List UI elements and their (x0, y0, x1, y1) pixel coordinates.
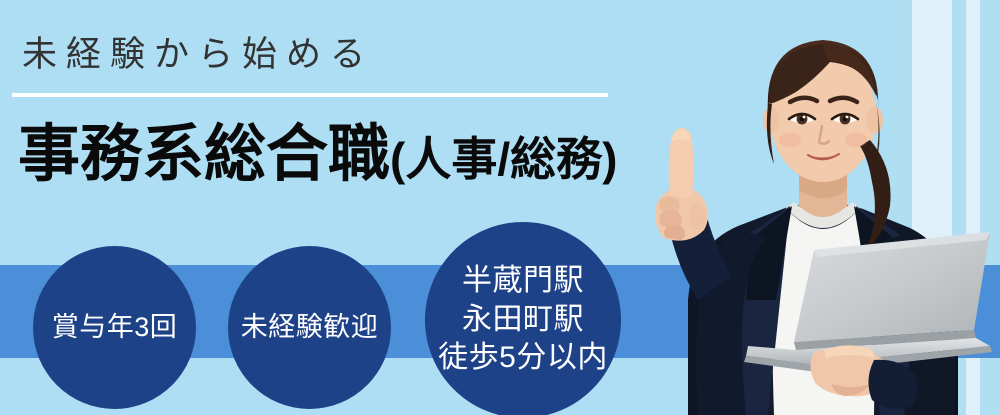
divider-rule (12, 93, 608, 97)
badge-inexperienced-welcome-label: 未経験歓迎 (241, 310, 379, 345)
tagline: 未経験から始める (22, 33, 374, 77)
badge-station-access-label: 半蔵門駅永田町駅徒歩5分以内 (438, 262, 608, 377)
headline-sub: (人事/総務) (390, 133, 617, 185)
page-title: 事務系総合職(人事/総務) (18, 118, 617, 208)
headline-main: 事務系総合職 (18, 120, 390, 189)
job-ad-banner: 未経験から始める 事務系総合職(人事/総務) 賞与年3回 未経験歓迎 半蔵門駅永… (0, 0, 1000, 415)
badge-inexperienced-welcome: 未経験歓迎 (228, 246, 391, 409)
badge-bonus: 賞与年3回 (33, 246, 196, 409)
businesswoman-photo (618, 0, 1000, 415)
badge-bonus-label: 賞与年3回 (52, 310, 178, 345)
badge-station-access: 半蔵門駅永田町駅徒歩5分以内 (425, 222, 621, 415)
